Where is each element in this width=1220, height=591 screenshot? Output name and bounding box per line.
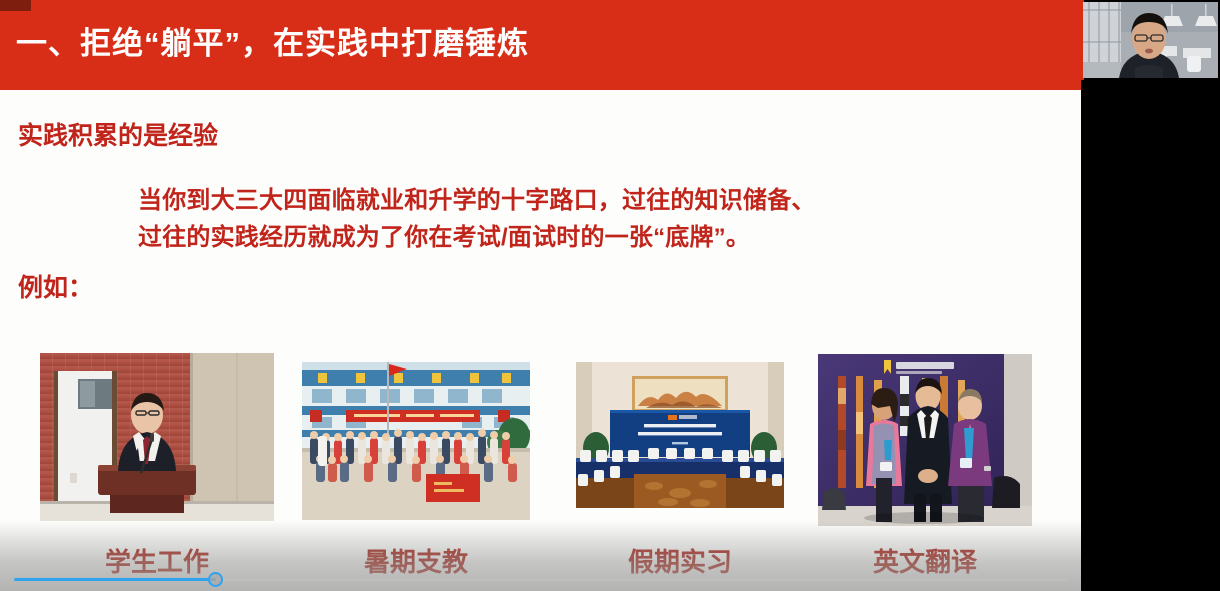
right-rail — [1081, 0, 1220, 591]
progress-handle[interactable] — [208, 572, 223, 587]
photo-image-tradeshow-booth — [818, 354, 1032, 526]
slide-stage[interactable]: 一、拒绝“躺平”，在实践中打磨锤炼 实践积累的是经验 当你到大三大四面临就业和升… — [0, 0, 1081, 591]
slide-body: 实践积累的是经验 当你到大三大四面临就业和升学的十字路口，过往的知识储备、 过往… — [0, 90, 1081, 591]
progress-fill — [14, 578, 216, 581]
header-corner-accent — [0, 0, 31, 11]
webcam-video-tile[interactable] — [1083, 2, 1218, 78]
screen-root: 一、拒绝“躺平”，在实践中打磨锤炼 实践积累的是经验 当你到大三大四面临就业和升… — [0, 0, 1220, 591]
photo-item-english-translation: 英文翻译 — [0, 90, 1081, 591]
progress-bar[interactable] — [0, 571, 1081, 587]
page-title: 一、拒绝“躺平”，在实践中打磨锤炼 — [16, 24, 529, 64]
slide-header-bar: 一、拒绝“躺平”，在实践中打磨锤炼 — [0, 0, 1081, 90]
